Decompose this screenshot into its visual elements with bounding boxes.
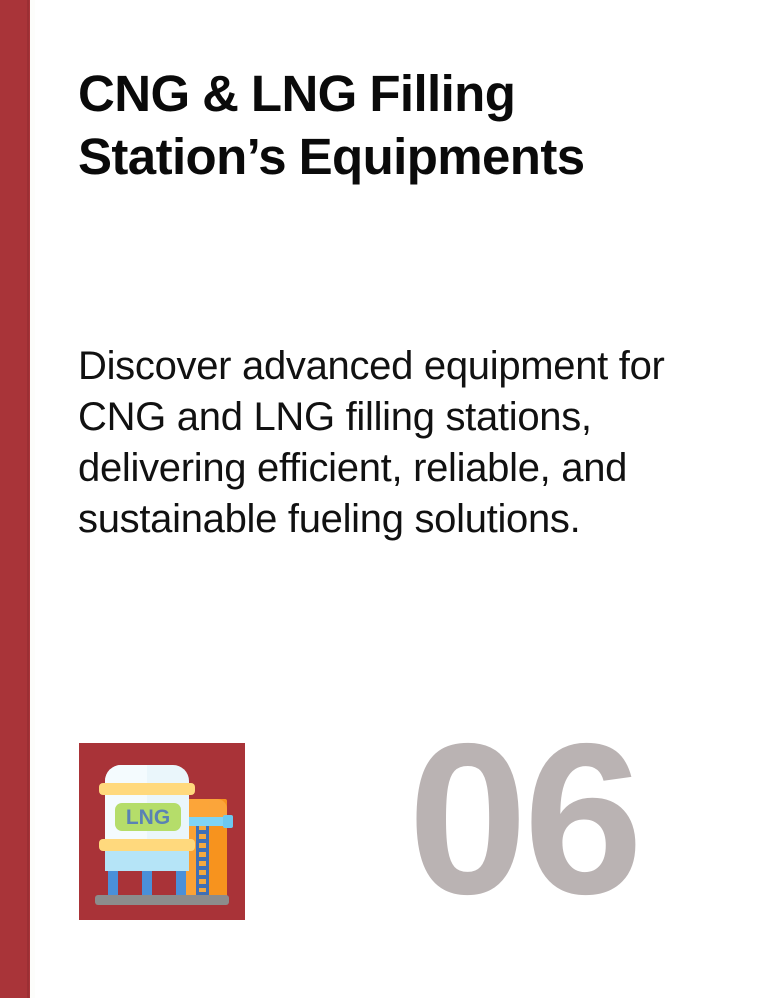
tank-band-lower: [99, 839, 195, 851]
lng-filling-station-icon: LNG: [79, 743, 245, 920]
ladder-rail-right: [206, 826, 209, 899]
accent-stripe-inner-line: [27, 0, 29, 998]
page-subtitle: Discover advanced equipment for CNG and …: [78, 341, 688, 545]
tank-pipe-cap: [223, 815, 233, 828]
slide-content: CNG & LNG Filling Station’s Equipments D…: [78, 0, 698, 998]
section-number: 06: [408, 709, 639, 929]
icon-tile: LNG: [79, 743, 245, 920]
tank-band-upper: [99, 783, 195, 795]
page-title: CNG & LNG Filling Station’s Equipments: [78, 62, 678, 188]
left-accent-stripe: [0, 0, 30, 998]
lng-label-text: LNG: [126, 806, 170, 829]
bottom-row: LNG 06: [78, 712, 698, 932]
icon-base-slab: [95, 895, 229, 905]
ladder-rail-left: [196, 826, 199, 899]
accent-stripe-edge-highlight: [30, 0, 35, 998]
slide-root: CNG & LNG Filling Station’s Equipments D…: [0, 0, 768, 998]
